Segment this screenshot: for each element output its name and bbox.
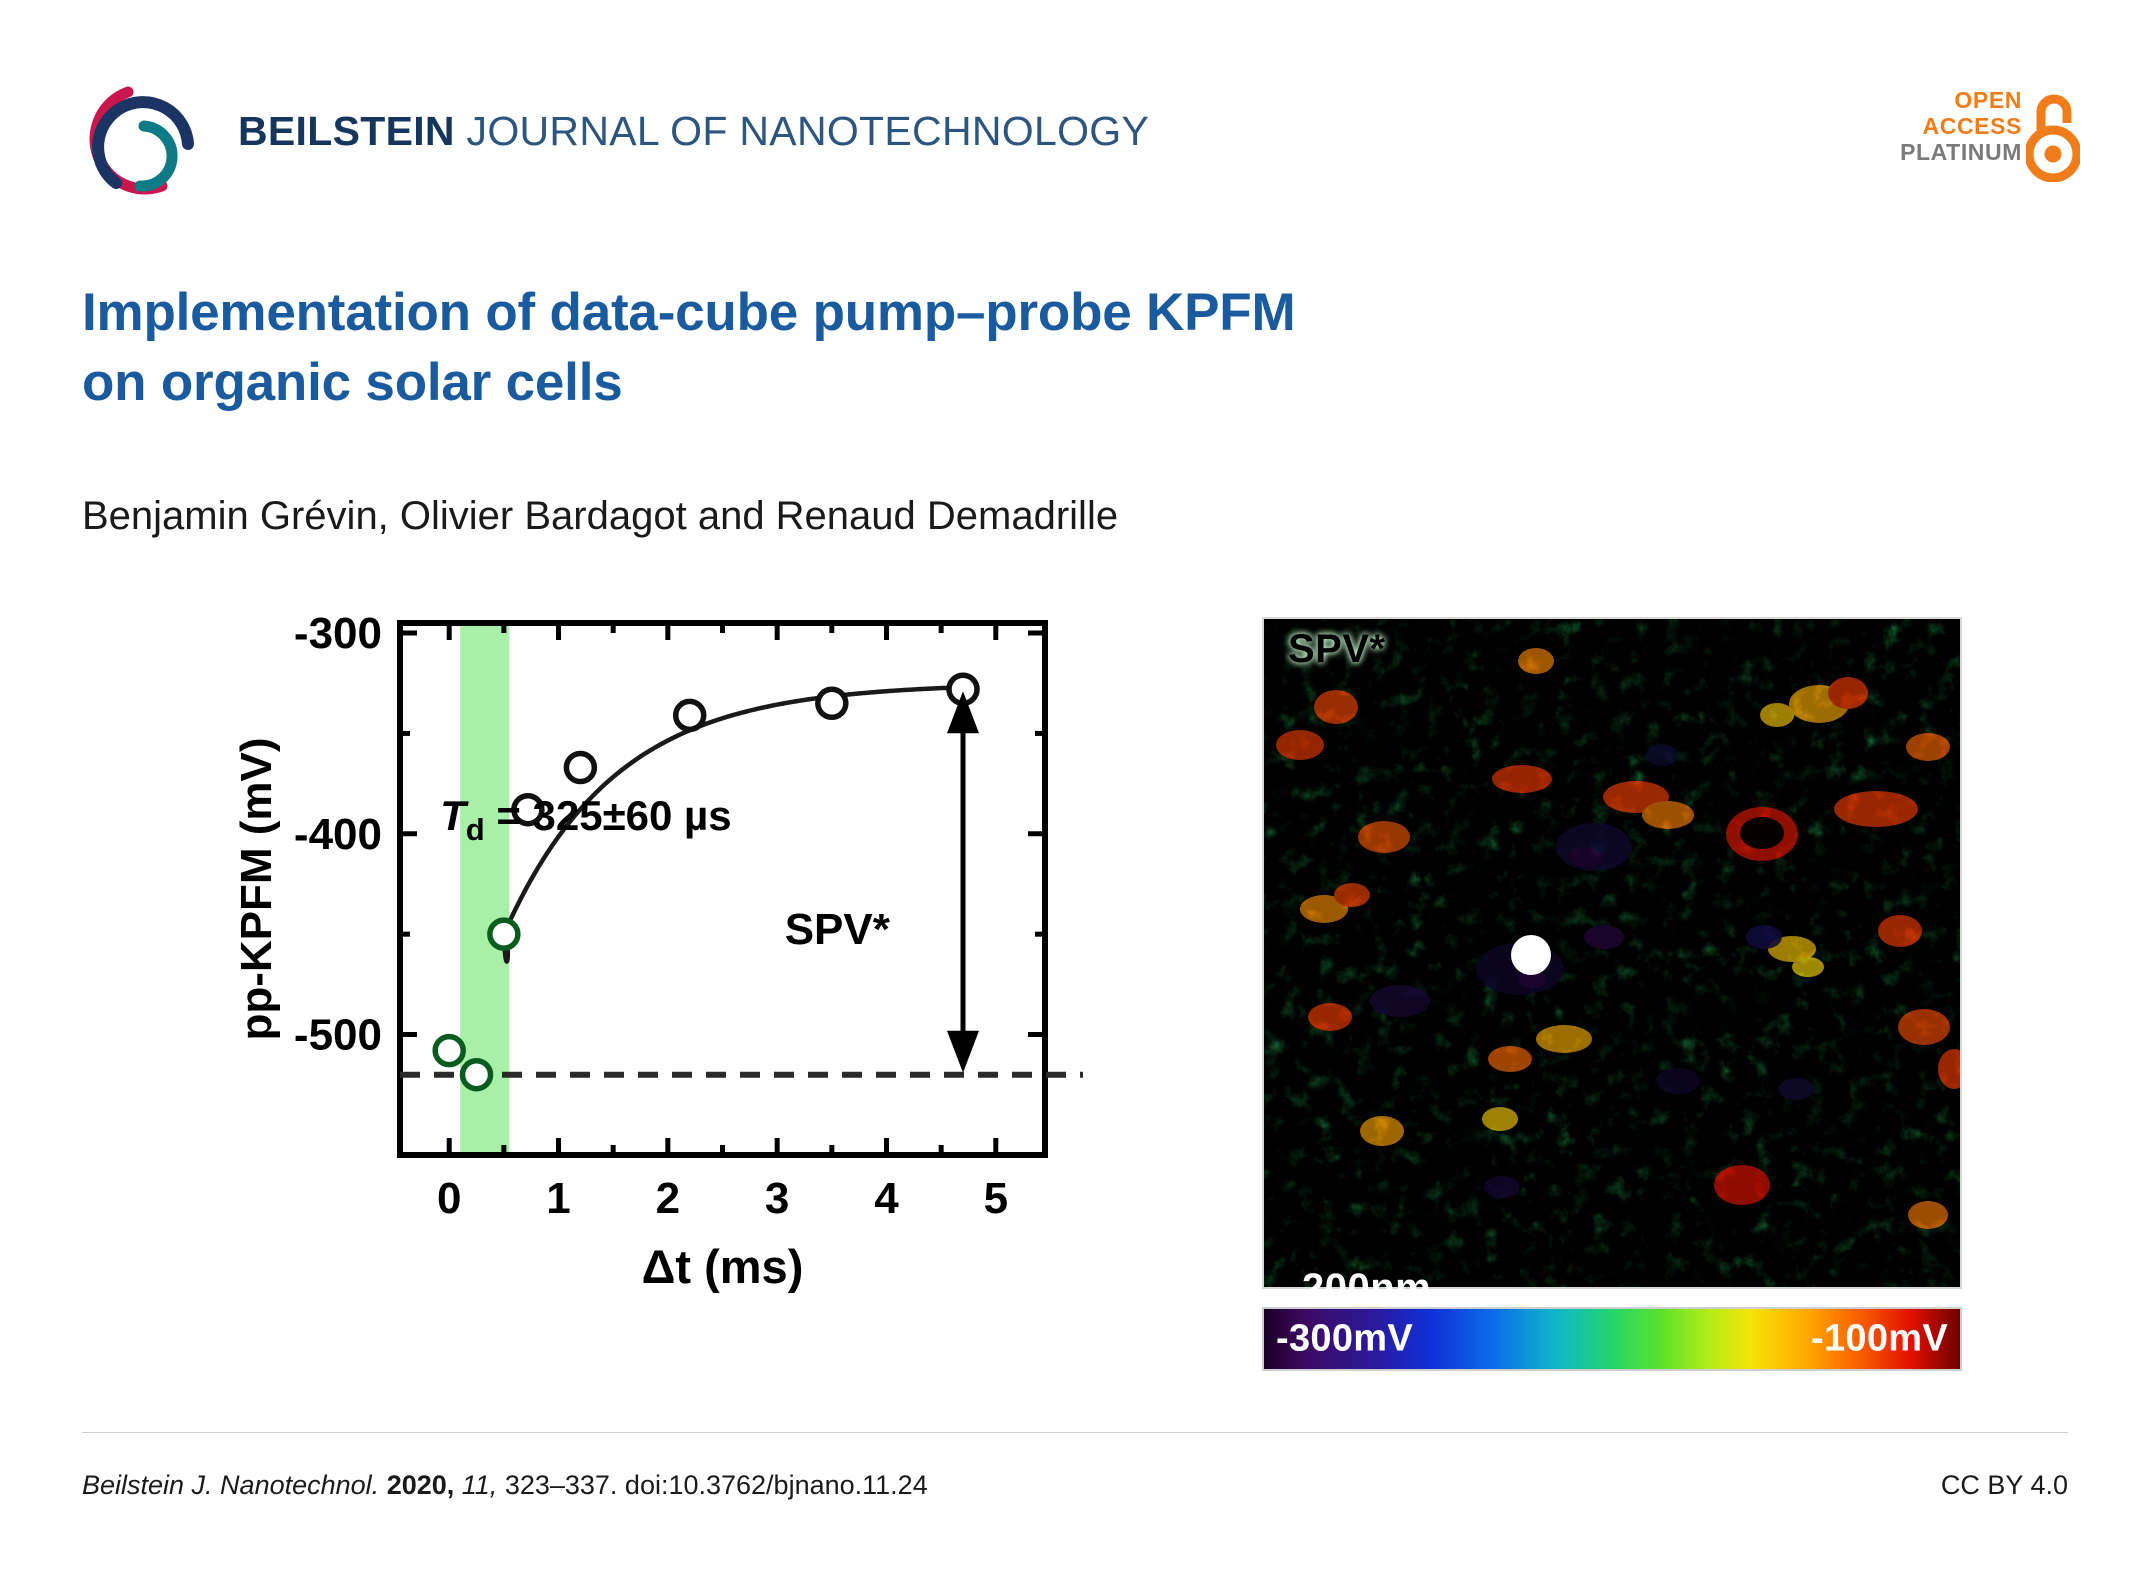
svg-text:pp-KPFM (mV): pp-KPFM (mV) — [232, 737, 281, 1040]
open-access-line2: ACCESS — [1900, 114, 2022, 140]
colorbar-min-label: -300mV — [1276, 1318, 1413, 1361]
journal-wordmark-light: JOURNAL OF NANOTECHNOLOGY — [455, 108, 1149, 154]
svg-text:5: 5 — [984, 1174, 1008, 1223]
page-title: Implementation of data-cube pump–probe K… — [82, 278, 1882, 418]
open-padlock-icon — [2026, 90, 2080, 182]
spv-colorbar: -300mV -100mV — [1262, 1307, 1962, 1371]
open-access-line1: OPEN — [1900, 88, 2022, 114]
article-title: Implementation of data-cube pump–probe K… — [82, 278, 1882, 418]
citation-journal: Beilstein J. Nanotechnol. — [82, 1470, 379, 1500]
svg-text:1: 1 — [546, 1174, 570, 1223]
journal-wordmark-bold: BEILSTEIN — [238, 108, 455, 154]
citation-pages: 323–337. doi:10.3762/bjnano.11.24 — [497, 1470, 927, 1500]
svg-text:Td = 325±60 µs: Td = 325±60 µs — [440, 792, 732, 847]
svg-text:0: 0 — [437, 1174, 461, 1223]
ppkpfm-transient-chart: 012345-300-400-500Δt (ms)pp-KPFM (mV)Td … — [225, 595, 1215, 1405]
spv-map-panel: SPV* 200nm -300mV -100mV — [1262, 617, 1962, 1395]
white-dot-marker — [1511, 935, 1551, 975]
spv-map-label: SPV* — [1288, 627, 1386, 672]
svg-text:-400: -400 — [294, 810, 382, 859]
svg-text:2: 2 — [656, 1174, 680, 1223]
svg-text:4: 4 — [874, 1174, 899, 1223]
journal-wordmark: BEILSTEIN JOURNAL OF NANOTECHNOLOGY — [238, 108, 1149, 155]
open-access-badge: OPEN ACCESS PLATINUM — [1900, 88, 2080, 193]
figure-area: 012345-300-400-500Δt (ms)pp-KPFM (mV)Td … — [0, 595, 2150, 1405]
spv-scalebar-label: 200nm — [1302, 1266, 1431, 1311]
colorbar-max-label: -100mV — [1811, 1318, 1948, 1361]
article-title-line1: Implementation of data-cube pump–probe K… — [82, 283, 1295, 342]
open-access-text: OPEN ACCESS PLATINUM — [1900, 88, 2022, 165]
svg-text:-500: -500 — [294, 1011, 382, 1060]
svg-text:Δt (ms): Δt (ms) — [642, 1240, 804, 1293]
citation-volume: 11, — [462, 1470, 498, 1500]
spv-map-image — [1262, 617, 1962, 1289]
license-label: CC BY 4.0 — [1941, 1470, 2068, 1501]
article-title-line2: on organic solar cells — [82, 353, 623, 412]
svg-text:-300: -300 — [294, 609, 382, 658]
open-access-line3: PLATINUM — [1900, 140, 2022, 166]
beilstein-triple-arc-logo — [82, 82, 200, 200]
article-authors: Benjamin Grévin, Olivier Bardagot and Re… — [82, 490, 1118, 542]
citation: Beilstein J. Nanotechnol. 2020, 11, 323–… — [82, 1470, 928, 1501]
citation-year: 2020, — [387, 1470, 455, 1500]
svg-text:SPV*: SPV* — [785, 905, 891, 954]
page-header: BEILSTEIN JOURNAL OF NANOTECHNOLOGY OPEN… — [0, 0, 2150, 220]
footer-divider — [82, 1432, 2068, 1433]
svg-text:3: 3 — [765, 1174, 789, 1223]
